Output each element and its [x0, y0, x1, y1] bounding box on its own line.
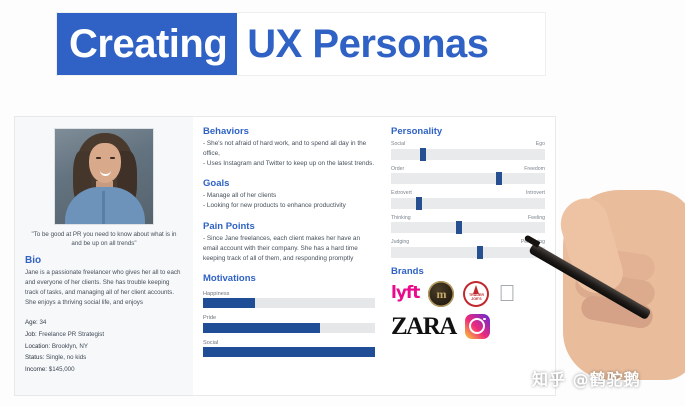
goals-item-2: - Looking for new products to enhance pr… — [203, 201, 375, 211]
slider-0-track[interactable] — [391, 149, 545, 160]
fact-age-value: 34 — [39, 319, 46, 326]
fact-job: Job: Freelance PR Strategist — [25, 329, 183, 341]
slider-4-left-label: Judging — [391, 239, 409, 245]
slider-4-right-label: Perceiving — [521, 239, 545, 245]
pain-points-heading: Pain Points — [203, 221, 375, 232]
motivation-pride-label: Pride — [203, 315, 375, 321]
photo-eye-right — [110, 157, 115, 159]
fact-location: Location: Brooklyn, NY — [25, 341, 183, 353]
motivations-heading: Motivations — [203, 273, 375, 284]
trader-joes-wordmark: TRADER JOE'S — [463, 294, 489, 306]
slider-3-left-label: Thinking — [391, 215, 411, 221]
slider-3-knob[interactable] — [456, 221, 462, 234]
photo-face — [89, 143, 121, 183]
persona-card: "To be good at PR you need to know about… — [14, 116, 556, 396]
fact-location-value: Brooklyn, NY — [52, 343, 88, 350]
fact-job-label: Job: — [25, 331, 37, 338]
brands-list: lyft m TRADER JOE'S  ZARA — [391, 281, 545, 339]
motivation-social: Social — [203, 340, 375, 358]
watermark: 知乎 @鹤驼鹅 — [532, 366, 641, 390]
persona-traits-column: Personality Social Ego Order Freedom — [383, 117, 555, 395]
personality-heading: Personality — [391, 126, 545, 137]
slider-1-knob[interactable] — [496, 172, 502, 185]
zara-icon: ZARA — [391, 314, 456, 339]
persona-quote: "To be good at PR you need to know about… — [27, 230, 181, 249]
behaviors-heading: Behaviors — [203, 126, 375, 137]
slider-2-track[interactable] — [391, 198, 545, 209]
motivation-pride: Pride — [203, 315, 375, 333]
instagram-icon — [465, 314, 490, 339]
hand-thumb — [555, 193, 628, 299]
fact-income-label: Income: — [25, 366, 47, 373]
motivation-social-label: Social — [203, 340, 375, 346]
motivation-happiness-track — [203, 298, 375, 308]
persona-facts: Age: 34 Job: Freelance PR Strategist Loc… — [25, 317, 183, 376]
photo-shirt-placket — [102, 191, 105, 225]
hand-finger-3 — [579, 294, 654, 330]
pain-points-item-1: - Since Jane freelances, each client mak… — [203, 234, 375, 264]
lyft-icon: lyft — [391, 285, 419, 302]
behaviors-item-2: - Uses Instagram and Twitter to keep up … — [203, 159, 375, 169]
fact-age: Age: 34 — [25, 317, 183, 329]
instagram-dot — [483, 318, 486, 321]
motivation-pride-fill — [203, 323, 320, 333]
fact-status: Status: Single, no kids — [25, 352, 183, 364]
bio-heading: Bio — [25, 255, 183, 266]
screenshot-canvas: Creating UX Personas "To be good at PR y… — [0, 0, 685, 406]
fact-status-value: Single, no kids — [46, 354, 86, 361]
slider-2-left-label: Extrovert — [391, 190, 412, 196]
motivation-social-track — [203, 347, 375, 357]
slider-4-track[interactable] — [391, 247, 545, 258]
page-title-banner: Creating UX Personas — [57, 13, 545, 75]
personality-slider-thinking-feeling: Thinking Feeling — [391, 215, 545, 234]
goals-heading: Goals — [203, 178, 375, 189]
persona-narrative-column: Behaviors - She's not afraid of hard wor… — [193, 117, 383, 395]
persona-photo — [54, 128, 154, 225]
lyft-wordmark: lyft — [391, 285, 419, 302]
behaviors-item-1: - She's not afraid of hard work, and to … — [203, 139, 375, 159]
apple-glyph:  — [498, 282, 515, 305]
motivation-pride-track — [203, 323, 375, 333]
slider-2-right-label: Introvert — [526, 190, 545, 196]
hand-finger-1 — [568, 244, 657, 283]
slider-1-right-label: Freedom — [524, 166, 545, 172]
personality-slider-order-freedom: Order Freedom — [391, 166, 545, 185]
persona-identity-column: "To be good at PR you need to know about… — [15, 117, 193, 395]
personality-slider-social-ego: Social Ego — [391, 141, 545, 160]
slider-2-knob[interactable] — [416, 197, 422, 210]
fact-job-value: Freelance PR Strategist — [38, 331, 104, 338]
motivation-happiness-fill — [203, 298, 255, 308]
brands-heading: Brands — [391, 266, 545, 277]
goals-item-1: - Manage all of her clients — [203, 191, 375, 201]
slider-0-right-label: Ego — [536, 141, 545, 147]
fact-status-label: Status: — [25, 354, 44, 361]
bio-text: Jane is a passionate freelancer who give… — [25, 268, 183, 308]
trader-joes-spire — [473, 285, 479, 294]
zara-wordmark: ZARA — [391, 314, 456, 339]
hand-finger-2 — [573, 270, 656, 308]
personality-slider-judging-perceiving: Judging Perceiving — [391, 239, 545, 258]
motivation-social-fill — [203, 347, 375, 357]
slider-1-track[interactable] — [391, 173, 545, 184]
slider-3-track[interactable] — [391, 222, 545, 233]
slider-0-knob[interactable] — [420, 148, 426, 161]
slider-4-knob[interactable] — [477, 246, 483, 259]
apple-icon:  — [498, 282, 515, 305]
slider-1-left-label: Order — [391, 166, 404, 172]
slider-0-left-label: Social — [391, 141, 405, 147]
photo-eye-left — [96, 157, 101, 159]
fact-location-label: Location: — [25, 343, 50, 350]
personality-slider-extrovert-introvert: Extrovert Introvert — [391, 190, 545, 209]
motivation-happiness: Happiness — [203, 291, 375, 309]
fact-income-value: $145,000 — [49, 366, 75, 373]
motivation-happiness-label: Happiness — [203, 291, 375, 297]
slider-3-right-label: Feeling — [528, 215, 545, 221]
emblem-icon: m — [428, 281, 454, 307]
instagram-lens — [469, 318, 485, 334]
hand-palm — [563, 190, 685, 380]
fact-income: Income: $145,000 — [25, 364, 183, 376]
page-title-rest: UX Personas — [237, 13, 502, 75]
page-title-highlight: Creating — [57, 13, 237, 75]
fact-age-label: Age: — [25, 319, 38, 326]
emblem-letter: m — [436, 288, 446, 300]
trader-joes-icon: TRADER JOE'S — [463, 281, 489, 307]
